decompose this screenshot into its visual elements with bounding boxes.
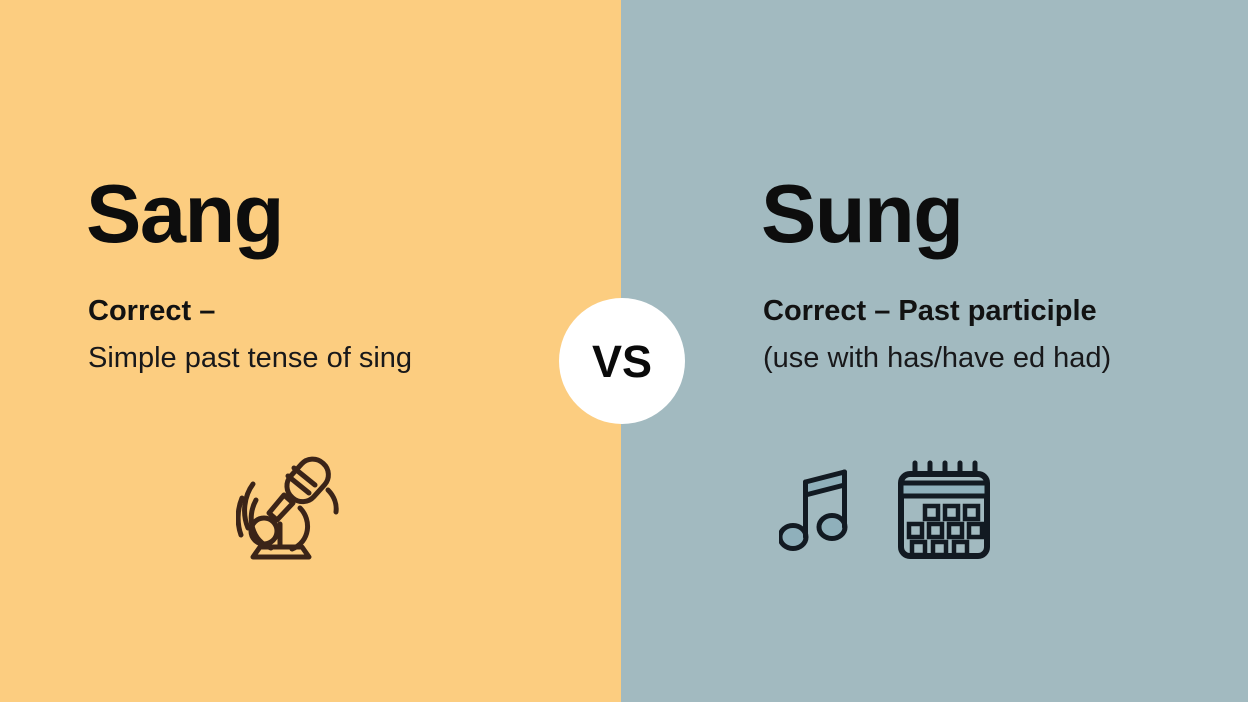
right-correct-label: Correct – Past participle bbox=[763, 297, 1097, 326]
left-correct-label: Correct – bbox=[88, 297, 215, 326]
left-description: Simple past tense of sing bbox=[88, 344, 412, 373]
vs-badge-label: VS bbox=[592, 339, 652, 384]
vs-comparison-board: Sang Correct – Simple past tense of sing bbox=[0, 0, 1248, 702]
comparison-panel-left: Sang Correct – Simple past tense of sing bbox=[0, 0, 621, 702]
left-panel-content: Sang Correct – Simple past tense of sing bbox=[0, 0, 621, 702]
vs-badge: VS bbox=[559, 298, 685, 424]
right-description: (use with has/have ed had) bbox=[763, 344, 1111, 373]
microphone-icon bbox=[236, 452, 346, 564]
right-panel-content: Sung Correct – Past participle (use with… bbox=[621, 0, 1248, 702]
calendar-icon bbox=[895, 460, 993, 560]
left-icon-group bbox=[236, 452, 356, 567]
comparison-panel-right: Sung Correct – Past participle (use with… bbox=[621, 0, 1248, 702]
right-icon-group bbox=[779, 452, 1029, 567]
music-note-icon bbox=[779, 464, 851, 556]
right-term-title: Sung bbox=[761, 172, 962, 255]
left-term-title: Sang bbox=[86, 172, 283, 255]
